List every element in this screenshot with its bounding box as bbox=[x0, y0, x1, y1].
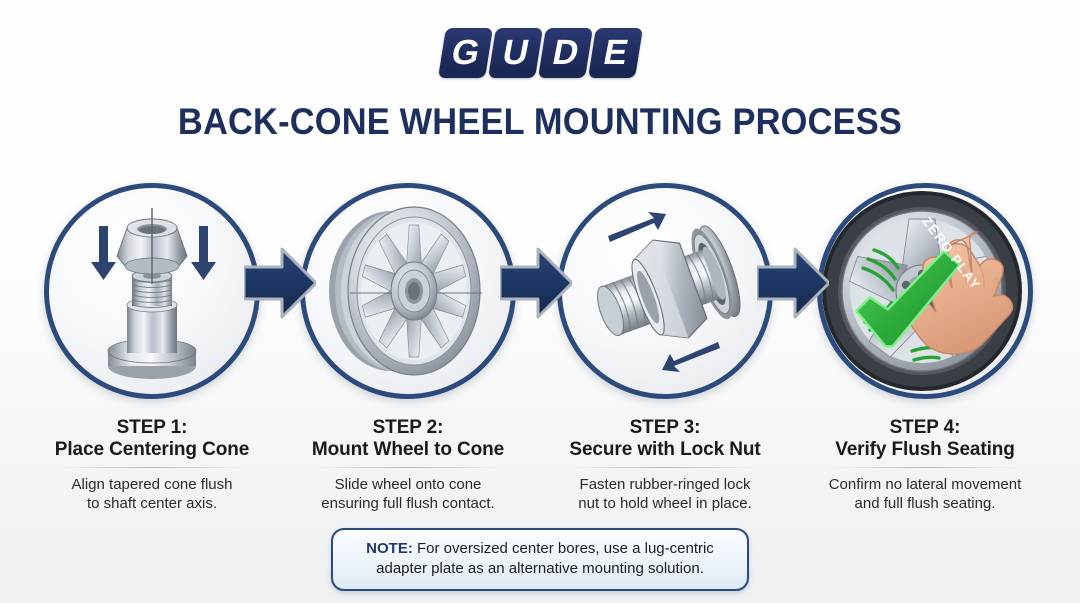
brand-logo: G U D E bbox=[0, 26, 1080, 80]
step-4-caption: STEP 4: Verify Flush Seating Confirm no … bbox=[800, 417, 1050, 513]
note-line-2: adapter plate as an alternative mounting… bbox=[376, 560, 704, 577]
step-2: STEP 2: Mount Wheel to Cone Slide wheel … bbox=[283, 183, 533, 513]
lock-nut-icon bbox=[562, 188, 768, 394]
alloy-wheel-icon bbox=[305, 188, 511, 394]
step-1: STEP 1: Place Centering Cone Align taper… bbox=[27, 183, 277, 513]
connector-arrow-2-icon bbox=[500, 243, 572, 323]
step-1-title: Place Centering Cone bbox=[27, 439, 277, 461]
step-4-illustration-circle: ZERO PLAY bbox=[817, 183, 1033, 399]
step-1-desc-line-2: to shaft center axis. bbox=[27, 494, 277, 513]
step-2-title: Mount Wheel to Cone bbox=[283, 439, 533, 461]
step-3-label: STEP 3: bbox=[540, 417, 790, 439]
step-2-caption: STEP 2: Mount Wheel to Cone Slide wheel … bbox=[283, 417, 533, 513]
logo-tile-u: U bbox=[488, 28, 543, 78]
step-3-caption: STEP 3: Secure with Lock Nut Fasten rubb… bbox=[540, 417, 790, 513]
step-1-desc-line-1: Align tapered cone flush bbox=[27, 475, 277, 494]
logo-letter-d: D bbox=[549, 35, 581, 72]
logo-tile-d: D bbox=[538, 28, 593, 78]
connector-arrow-1-icon bbox=[244, 243, 316, 323]
connector-arrow-3-icon bbox=[757, 243, 829, 323]
centering-cone-icon bbox=[49, 188, 255, 394]
verify-seating-icon: ZERO PLAY bbox=[822, 188, 1028, 394]
step-3-desc-line-2: nut to hold wheel in place. bbox=[540, 494, 790, 513]
infographic-canvas: G U D E BACK-CONE WHEEL MOUNTING PROCESS bbox=[0, 0, 1080, 603]
step-4-desc-line-2: and full flush seating. bbox=[800, 494, 1050, 513]
note-box: NOTE: For oversized center bores, use a … bbox=[331, 528, 749, 591]
note-line-1: For oversized center bores, use a lug-ce… bbox=[413, 540, 714, 557]
step-3-divider bbox=[570, 467, 760, 468]
step-1-illustration-circle bbox=[44, 183, 260, 399]
step-1-caption: STEP 1: Place Centering Cone Align taper… bbox=[27, 417, 277, 513]
step-2-illustration-circle bbox=[300, 183, 516, 399]
step-4-divider bbox=[830, 467, 1020, 468]
page-title: BACK-CONE WHEEL MOUNTING PROCESS bbox=[38, 101, 1042, 143]
logo-letter-g: G bbox=[448, 35, 482, 72]
step-4-title: Verify Flush Seating bbox=[800, 439, 1050, 461]
logo-letter-e: E bbox=[600, 35, 630, 72]
logo-letter-u: U bbox=[499, 35, 531, 72]
step-2-desc-line-1: Slide wheel onto cone bbox=[283, 475, 533, 494]
step-4-desc-line-1: Confirm no lateral movement bbox=[800, 475, 1050, 494]
step-2-desc-line-2: ensuring full flush contact. bbox=[283, 494, 533, 513]
step-3: STEP 3: Secure with Lock Nut Fasten rubb… bbox=[540, 183, 790, 513]
step-3-illustration-circle bbox=[557, 183, 773, 399]
step-2-label: STEP 2: bbox=[283, 417, 533, 439]
step-3-title: Secure with Lock Nut bbox=[540, 439, 790, 461]
logo-tile-e: E bbox=[588, 28, 643, 78]
step-2-divider bbox=[313, 467, 503, 468]
logo-tile-g: G bbox=[438, 28, 493, 78]
note-prefix: NOTE: bbox=[366, 540, 413, 557]
step-1-divider bbox=[57, 467, 247, 468]
step-1-label: STEP 1: bbox=[27, 417, 277, 439]
step-4: ZERO PLAY STEP 4: Verify Flush Seating C… bbox=[800, 183, 1050, 513]
step-3-desc-line-1: Fasten rubber-ringed lock bbox=[540, 475, 790, 494]
step-4-label: STEP 4: bbox=[800, 417, 1050, 439]
steps-row: STEP 1: Place Centering Cone Align taper… bbox=[0, 183, 1080, 503]
